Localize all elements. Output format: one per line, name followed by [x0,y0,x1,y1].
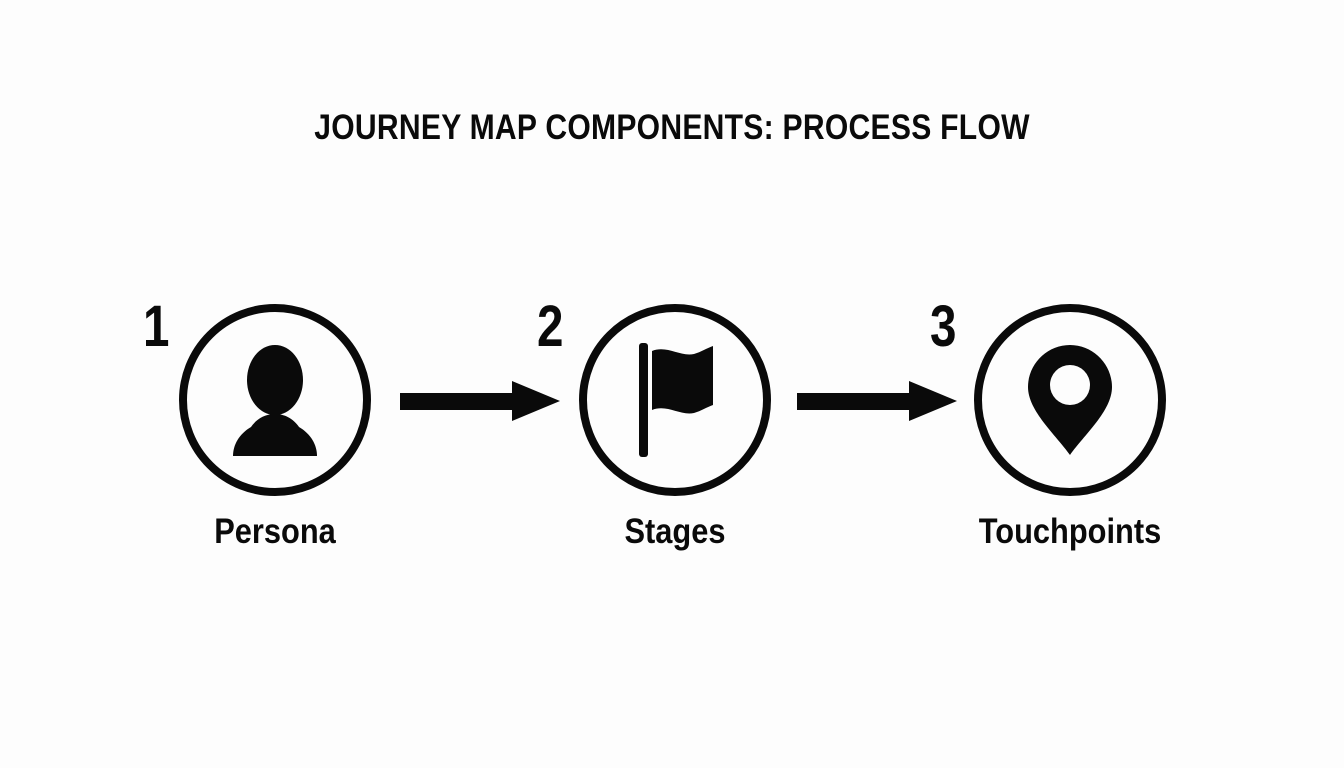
person-icon [179,304,371,496]
step-number-badge: 3 [930,298,956,356]
process-flow: 1 Persona 2 Stages [0,0,1344,768]
step-number-badge: 2 [537,298,563,356]
step-label-stages: Stages [511,512,838,552]
flow-step-touchpoints[interactable]: 3 Touchpoints [974,304,1166,496]
step-label-persona: Persona [111,512,438,552]
map-pin-icon [974,304,1166,496]
flow-step-persona[interactable]: 1 Persona [179,304,371,496]
flow-step-stages[interactable]: 2 Stages [579,304,771,496]
step-label-touchpoints: Touchpoints [906,512,1233,552]
diagram-canvas: JOURNEY MAP COMPONENTS: PROCESS FLOW 1 P… [0,0,1344,768]
step-number-badge: 1 [143,298,169,356]
flag-icon [579,304,771,496]
arrow-right-icon [400,380,560,422]
arrow-right-icon [797,380,957,422]
